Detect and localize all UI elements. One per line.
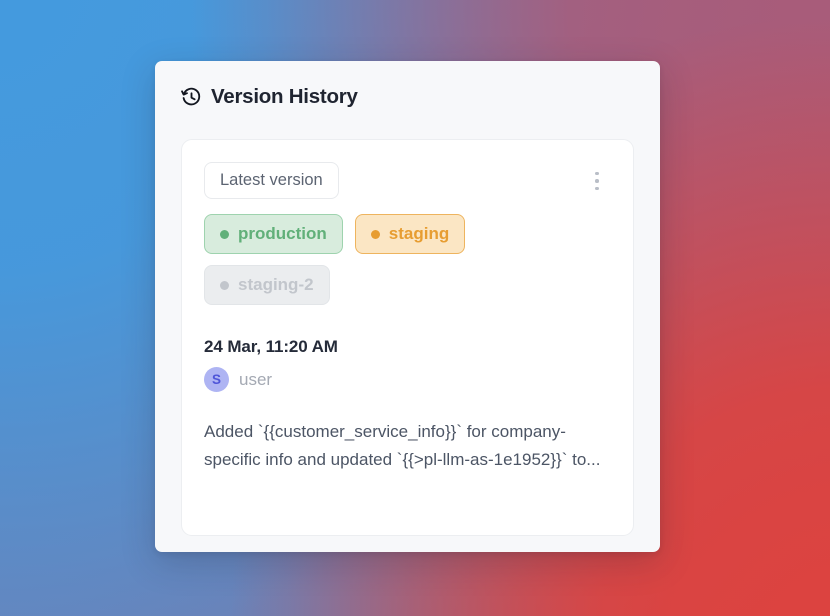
env-badge-label: staging-2 [238,275,314,295]
author-name: user [239,370,272,390]
env-badge-label: staging [389,224,449,244]
env-badge-staging-2[interactable]: staging-2 [204,265,330,305]
menu-dot [595,179,599,183]
avatar: S [204,367,229,392]
history-clock-icon [181,87,202,108]
more-vertical-icon[interactable] [584,166,610,196]
panel-header: Version History [155,61,660,108]
version-card-top-row: Latest version [204,162,611,199]
version-description: Added `{{customer_service_info}}` for co… [204,418,611,473]
status-dot-icon [371,230,380,239]
environment-badge-list: production staging staging-2 [204,214,504,305]
version-history-panel: Version History Latest version productio… [155,61,660,552]
env-badge-production[interactable]: production [204,214,343,254]
latest-version-chip[interactable]: Latest version [204,162,339,199]
menu-dot [595,187,599,191]
version-entry-card: Latest version production staging stagin… [181,139,634,536]
version-timestamp: 24 Mar, 11:20 AM [204,337,611,357]
status-dot-icon [220,230,229,239]
status-dot-icon [220,281,229,290]
menu-dot [595,172,599,176]
env-badge-staging[interactable]: staging [355,214,465,254]
author-row: S user [204,367,611,392]
page-title: Version History [211,87,358,108]
env-badge-label: production [238,224,327,244]
